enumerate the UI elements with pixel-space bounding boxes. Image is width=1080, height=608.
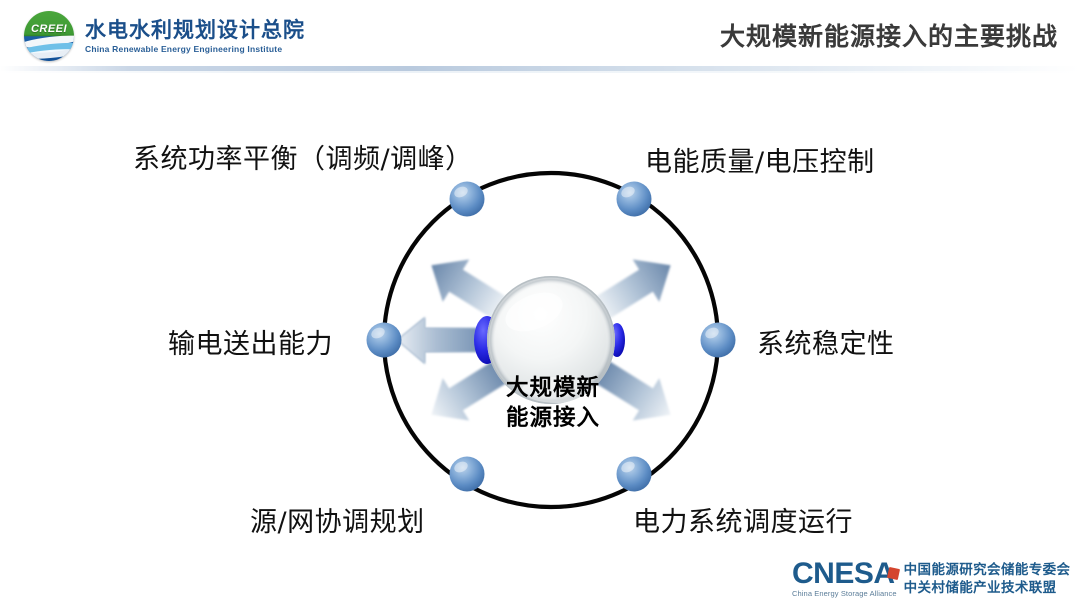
cnesa-wordmark: CNESA: [792, 559, 897, 589]
node-sphere-bottom-right[interactable]: [617, 457, 652, 492]
slide-title: 大规模新能源接入的主要挑战: [720, 17, 1058, 53]
center-orb: [487, 276, 615, 404]
node-label-power-quality-voltage-control[interactable]: 电能质量/电压控制: [645, 140, 875, 179]
node-label-power-system-dispatch[interactable]: 电力系统调度运行: [633, 500, 853, 539]
logo-wordmark: CREEI: [24, 23, 74, 35]
node-sphere-right[interactable]: [701, 323, 736, 358]
node-label-system-power-balance[interactable]: 系统功率平衡（调频/调峰）: [133, 137, 473, 176]
cnesa-mark: CNESA China Energy Storage Alliance: [792, 559, 897, 599]
cnesa-cn-line-2: 中关村储能产业技术联盟: [904, 579, 1071, 597]
org-name-en: China Renewable Energy Engineering Insti…: [85, 43, 305, 55]
brand-text-block: 水电水利规划设计总院 China Renewable Energy Engine…: [85, 18, 305, 55]
brand-lockup: CREEI 水电水利规划设计总院 China Renewable Energy …: [24, 11, 305, 61]
cnesa-cn-line-1: 中国能源研究会储能专委会: [904, 561, 1071, 579]
node-label-transmission-capacity[interactable]: 输电送出能力: [168, 322, 333, 361]
node-label-system-stability[interactable]: 系统稳定性: [757, 322, 895, 361]
cnesa-accent-icon: [887, 567, 900, 580]
node-sphere-top-right[interactable]: [617, 182, 652, 217]
header-divider-secondary: [0, 71, 1080, 73]
slide-header: CREEI 水电水利规划设计总院 China Renewable Energy …: [0, 0, 1080, 68]
node-sphere-left[interactable]: [367, 323, 402, 358]
cnesa-subtitle-en: China Energy Storage Alliance: [792, 589, 897, 599]
org-name-cn: 水电水利规划设计总院: [85, 18, 305, 42]
arrow-right: [397, 317, 485, 364]
creei-logo-icon: CREEI: [24, 11, 74, 61]
node-label-source-grid-planning[interactable]: 源/网协调规划: [250, 500, 425, 539]
cnesa-subtitle-cn: 中国能源研究会储能专委会 中关村储能产业技术联盟: [904, 561, 1071, 597]
node-sphere-top-left[interactable]: [450, 182, 485, 217]
footer-logo: CNESA China Energy Storage Alliance 中国能源…: [792, 556, 1072, 602]
node-sphere-bottom-left[interactable]: [450, 457, 485, 492]
